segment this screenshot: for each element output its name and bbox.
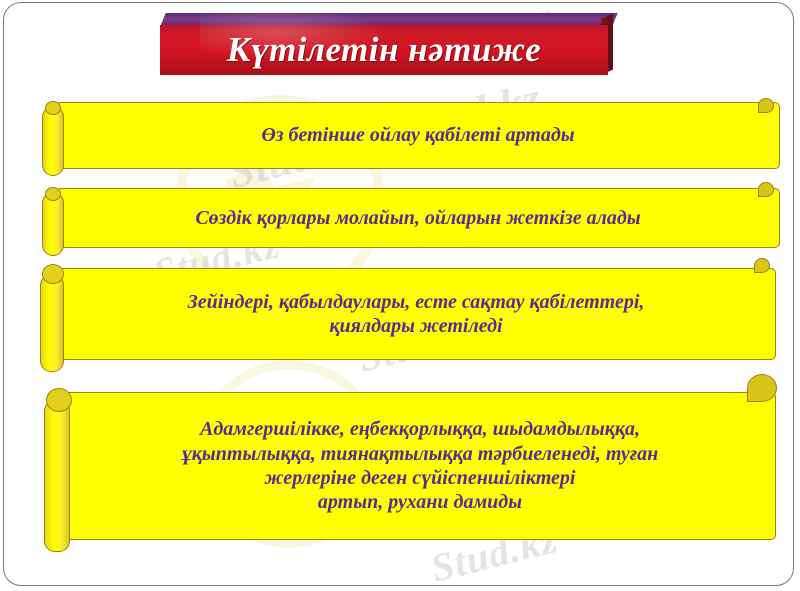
scroll-banner: Зейіндері, қабылдаулары, есте сақтау қаб… — [14, 262, 780, 372]
scroll-curl-left-icon — [42, 264, 64, 284]
scroll-roll-left-icon — [44, 400, 70, 552]
title-banner-face: Күтілетін нәтиже — [160, 25, 608, 75]
scroll-curl-right-icon — [758, 98, 774, 113]
scroll-curl-left-icon — [45, 187, 61, 201]
page-title: Күтілетін нәтиже — [227, 30, 541, 70]
scroll-curl-right-icon — [754, 258, 770, 273]
scroll-paper: Сөздік қорлары молайып, ойларын жеткізе … — [56, 188, 780, 248]
scroll-banner: Адамгершілікке, еңбекқорлыққа, шыдамдылы… — [14, 382, 780, 568]
scroll-curl-right-icon — [758, 182, 774, 197]
scroll-curl-left-icon — [45, 101, 61, 115]
scroll-text: Сөздік қорлары молайып, ойларын жеткізе … — [181, 206, 654, 230]
scroll-roll-left-icon — [42, 192, 64, 256]
scroll-text: Адамгершілікке, еңбекқорлыққа, шыдамдылы… — [168, 417, 673, 515]
scroll-paper: Адамгершілікке, еңбекқорлыққа, шыдамдылы… — [64, 392, 776, 540]
scroll-curl-right-icon — [747, 374, 777, 402]
scroll-roll-left-icon — [40, 274, 64, 372]
slide-title-banner: Күтілетін нәтиже — [160, 13, 612, 75]
scroll-banner: Өз бетінше ойлау қабілеті артады — [18, 98, 780, 176]
scroll-curl-left-icon — [46, 388, 72, 412]
scroll-text: Зейіндері, қабылдаулары, есте сақтау қаб… — [174, 290, 659, 339]
scroll-paper: Өз бетінше ойлау қабілеті артады — [56, 102, 780, 169]
slide-canvas: Stud.kz Stud.kz - Stud.kz Stud.kz - Stud… — [0, 0, 800, 591]
scroll-roll-left-icon — [42, 106, 64, 176]
scroll-banner: Сөздік қорлары молайып, ойларын жеткізе … — [18, 184, 780, 256]
scroll-text: Өз бетінше ойлау қабілеті артады — [247, 123, 588, 147]
scroll-paper: Зейіндері, қабылдаулары, есте сақтау қаб… — [56, 268, 776, 360]
